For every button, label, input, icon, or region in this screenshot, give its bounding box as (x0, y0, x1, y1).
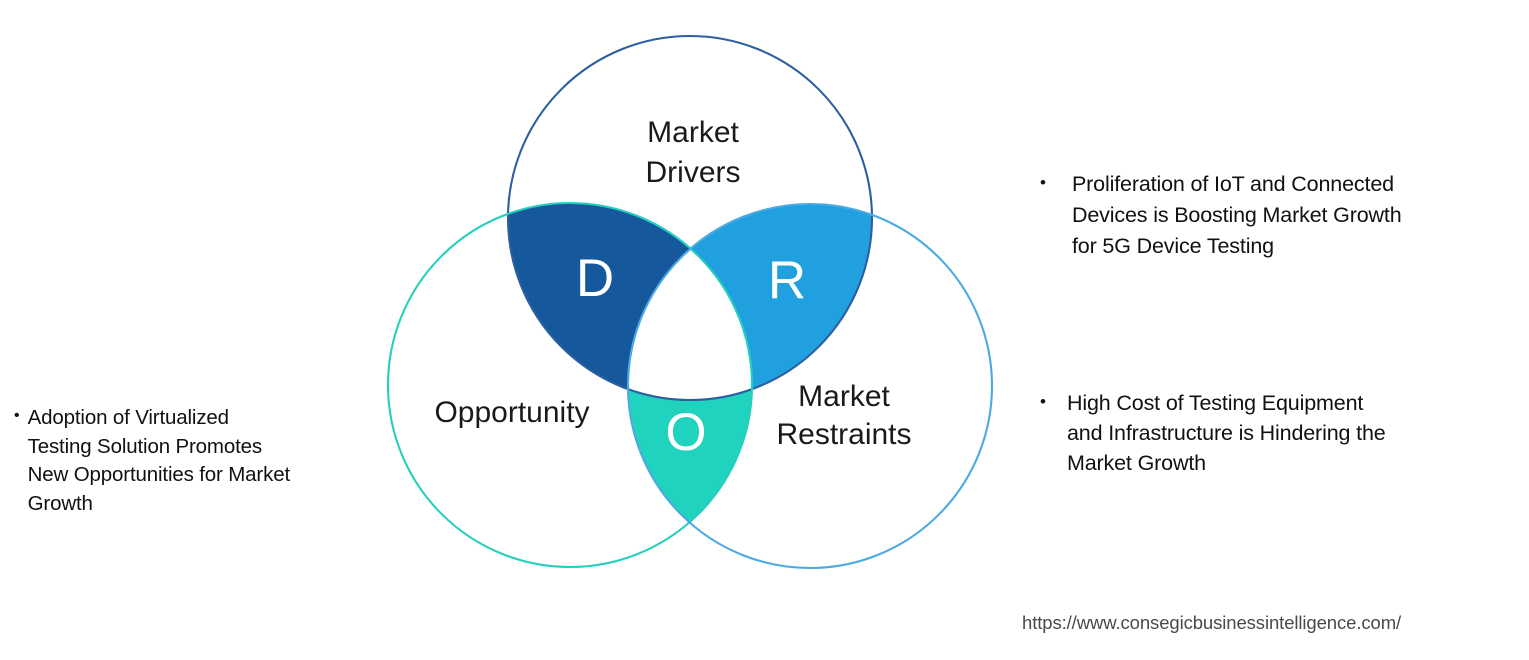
label-market-drivers-line2: Drivers (646, 156, 741, 189)
lens-letter-d: D (576, 249, 614, 308)
lens-letter-o: O (665, 403, 706, 462)
label-market-drivers-line1: Market (647, 116, 739, 149)
callout-market-restraints: • High Cost of Testing Equipment and Inf… (1040, 388, 1510, 478)
label-market-restraints-line2: Restraints (776, 418, 911, 451)
callout-opportunity-text: Adoption of Virtualized Testing Solution… (28, 404, 290, 518)
lens-letter-r: R (768, 251, 806, 310)
bullet-icon: • (1040, 169, 1046, 191)
venn-svg: Market Drivers Opportunity Market Restra… (370, 18, 1010, 588)
callout-market-restraints-text: High Cost of Testing Equipment and Infra… (1067, 388, 1386, 478)
bullet-icon: • (14, 404, 20, 424)
source-url[interactable]: https://www.consegicbusinessintelligence… (1022, 612, 1401, 634)
venn-diagram-page: Market Drivers Opportunity Market Restra… (0, 0, 1529, 660)
callout-market-drivers-text: Proliferation of IoT and Connected Devic… (1072, 169, 1402, 262)
label-opportunity: Opportunity (434, 396, 589, 429)
label-market-restraints-line1: Market (798, 380, 890, 413)
venn-diagram: Market Drivers Opportunity Market Restra… (370, 18, 1010, 588)
callout-market-drivers: • Proliferation of IoT and Connected Dev… (1040, 169, 1510, 262)
callout-opportunity: • Adoption of Virtualized Testing Soluti… (14, 404, 370, 518)
bullet-icon: • (1040, 388, 1046, 410)
